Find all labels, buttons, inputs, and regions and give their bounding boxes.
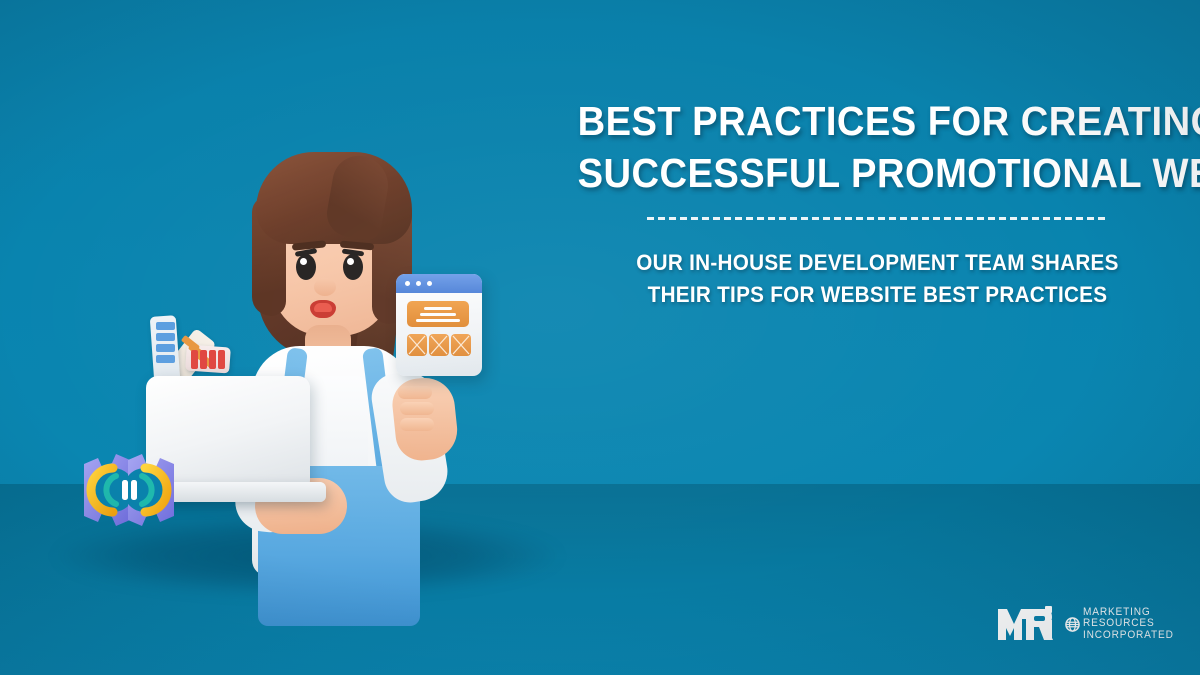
- finger-2: [400, 402, 434, 415]
- brand-logo[interactable]: MARKETING RESOURCES INCORPORATED: [996, 606, 1182, 642]
- logo-word-marketing: MARKETING: [1083, 607, 1174, 619]
- nose: [314, 278, 336, 296]
- headline-block: BEST PRACTICES FOR CREATING SUCCESSFUL P…: [555, 95, 1200, 310]
- logo-word-incorporated: INCORPORATED: [1083, 630, 1174, 642]
- browser-hero-line-3: [416, 319, 460, 322]
- globe-icon: [1065, 617, 1080, 632]
- headline-line-2: SUCCESSFUL PROMOTIONAL WEBSITES: [578, 147, 1178, 199]
- eye-left: [296, 254, 316, 280]
- browser-window-mockup: [396, 274, 482, 376]
- pause-bar-right: [131, 480, 137, 500]
- placeholder-x-1: [407, 334, 427, 356]
- swatch-bar-blue-4: [156, 355, 175, 363]
- finger-1: [398, 386, 432, 399]
- dashed-divider: [647, 217, 1109, 220]
- headline-line-1: BEST PRACTICES FOR CREATING: [578, 95, 1178, 147]
- browser-hero-line-1: [424, 307, 452, 310]
- placeholder-x-2: [429, 334, 449, 356]
- eye-right: [343, 254, 363, 280]
- gear-right-half: [123, 454, 174, 526]
- browser-dot-3: [427, 281, 432, 286]
- swatch-bar-blue-3: [156, 344, 175, 352]
- pause-bar-left: [122, 480, 128, 500]
- eye-highlight-right: [347, 258, 354, 265]
- mouth-inner: [314, 303, 332, 312]
- swatch-bar-blue-1: [156, 322, 175, 330]
- banner-canvas: BEST PRACTICES FOR CREATING SUCCESSFUL P…: [0, 0, 1200, 675]
- browser-hero-line-2: [420, 313, 456, 316]
- subheadline-line-1: OUR IN-HOUSE DEVELOPMENT TEAM SHARES: [574, 248, 1180, 278]
- subheadline-line-2: THEIR TIPS FOR WEBSITE BEST PRACTICES: [574, 280, 1180, 310]
- swatch-bar-red-3: [209, 350, 216, 369]
- browser-dot-1: [405, 281, 410, 286]
- swatch-bar-blue-2: [156, 333, 175, 341]
- browser-dot-2: [416, 281, 421, 286]
- placeholder-x-3: [451, 334, 471, 356]
- finger-3: [400, 418, 434, 431]
- eye-highlight-left: [300, 258, 307, 265]
- swatch-bar-red-1: [191, 350, 198, 369]
- gear-badge-icon: [72, 434, 186, 546]
- swatch-bar-red-2: [200, 350, 207, 369]
- mri-monogram-icon: [996, 606, 1058, 642]
- logo-wordmark-group: MARKETING RESOURCES INCORPORATED: [1065, 607, 1182, 642]
- logo-words: MARKETING RESOURCES INCORPORATED: [1083, 607, 1174, 642]
- swatch-bar-red-4: [218, 350, 225, 369]
